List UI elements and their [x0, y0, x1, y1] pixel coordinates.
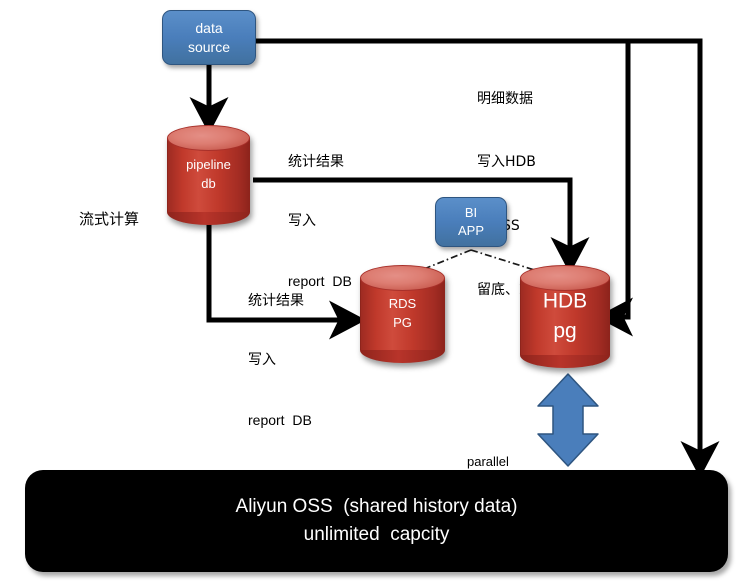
- node-data-source[interactable]: data source: [162, 10, 256, 65]
- node-hdb-pg-label-2: pg: [520, 317, 610, 347]
- label-stream-compute: 流式计算: [79, 168, 139, 269]
- label-stats-upper-line-1: 统计结果: [288, 153, 352, 173]
- cylinder-top: [167, 125, 250, 151]
- node-bi-app-label-2: APP: [458, 222, 484, 240]
- diagram-canvas: data source pipeline db BI APP RDS PG HD…: [0, 0, 747, 585]
- node-pipeline-db[interactable]: pipeline db: [167, 125, 250, 225]
- node-data-source-label-2: source: [188, 38, 230, 57]
- node-rds-pg-label: RDS PG: [360, 295, 445, 333]
- node-aliyun-oss[interactable]: Aliyun OSS (shared history data) unlimit…: [25, 470, 728, 572]
- node-pipeline-db-label: pipeline db: [167, 156, 250, 194]
- node-bi-app[interactable]: BI APP: [435, 197, 507, 247]
- label-stats-lower-line-3: report DB: [248, 411, 312, 431]
- node-aliyun-oss-label-2: unlimited capcity: [304, 521, 450, 549]
- label-detail-data-line-2: 写入HDB: [477, 152, 603, 173]
- node-hdb-pg-label-1: HDB: [520, 286, 610, 316]
- label-stats-to-report-db-lower: 统计结果 写入 report DB: [248, 252, 312, 471]
- label-stats-lower-line-1: 统计结果: [248, 292, 312, 312]
- node-aliyun-oss-label-1: Aliyun OSS (shared history data): [236, 493, 518, 521]
- node-hdb-pg[interactable]: HDB pg: [520, 265, 610, 368]
- label-stream-compute-line-1: 流式计算: [79, 209, 139, 229]
- node-hdb-pg-label: HDB pg: [520, 286, 610, 347]
- label-detail-data-line-1: 明细数据: [477, 89, 603, 110]
- node-rds-pg-label-1: RDS: [360, 295, 445, 314]
- connector-hdb-pg-to-aliyun-oss: [538, 374, 598, 466]
- node-bi-app-label-1: BI: [465, 204, 477, 222]
- label-stats-lower-line-2: 写入: [248, 351, 312, 371]
- node-pipeline-db-label-2: db: [167, 175, 250, 194]
- node-rds-pg-label-2: PG: [360, 314, 445, 333]
- node-data-source-label-1: data: [195, 19, 222, 38]
- node-rds-pg[interactable]: RDS PG: [360, 265, 445, 363]
- cylinder-top: [360, 265, 445, 291]
- label-stats-upper-line-2: 写入: [288, 212, 352, 232]
- node-pipeline-db-label-1: pipeline: [167, 156, 250, 175]
